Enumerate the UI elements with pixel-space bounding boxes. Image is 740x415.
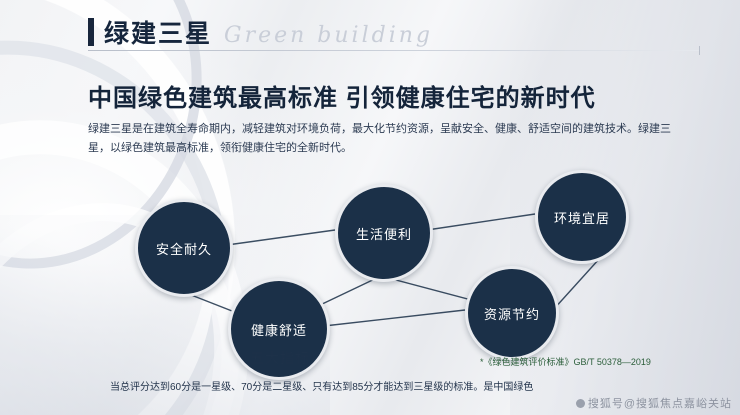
page-title: 中国绿色建筑最高标准 引领健康住宅的新时代 bbox=[88, 78, 596, 113]
diagram-node-label: 环境宜居 bbox=[554, 208, 610, 227]
diagram-node-convenience: 生活便利 bbox=[335, 184, 433, 282]
header: 绿建三星 Green building bbox=[88, 14, 433, 50]
watermark-dot-icon bbox=[576, 399, 585, 408]
diagram-caption: （五大指标） bbox=[235, 348, 325, 368]
slide-canvas: 绿建三星 Green building 中国绿色建筑最高标准 引领健康住宅的新时… bbox=[0, 0, 740, 415]
diagram-node-resource: 资源节约 bbox=[465, 266, 559, 360]
diagram-node-label: 生活便利 bbox=[356, 224, 412, 243]
header-title: 绿建三星 bbox=[104, 14, 212, 50]
watermark-text: 搜狐号@搜狐焦点嘉峪关站 bbox=[588, 398, 732, 410]
diagram-node-label: 资源节约 bbox=[484, 304, 540, 323]
standard-reference-note: *《绿色建筑评价标准》GB/T 50378—2019 bbox=[480, 355, 651, 368]
diagram-node-label: 健康舒适 bbox=[251, 320, 307, 339]
scoring-footnote: 当总评分达到60分是一星级、70分是二星级、只有达到85分才能达到三星级的标准。… bbox=[110, 380, 730, 396]
diagram-node-label: 安全耐久 bbox=[156, 239, 212, 258]
intro-paragraph: 绿建三星是在建筑全寿命期内，减轻建筑对环境负荷，最大化节约资源，呈献安全、健康、… bbox=[88, 120, 684, 158]
five-indicators-diagram: 安全耐久 生活便利 环境宜居 健康舒适 资源节约 bbox=[110, 170, 630, 355]
header-subtitle: Green building bbox=[224, 23, 433, 48]
watermark: 搜狐号@搜狐焦点嘉峪关站 bbox=[576, 395, 732, 411]
header-divider bbox=[88, 50, 700, 51]
header-accent-bar bbox=[88, 18, 94, 46]
diagram-node-safety: 安全耐久 bbox=[135, 199, 233, 297]
diagram-node-environment: 环境宜居 bbox=[535, 170, 629, 264]
